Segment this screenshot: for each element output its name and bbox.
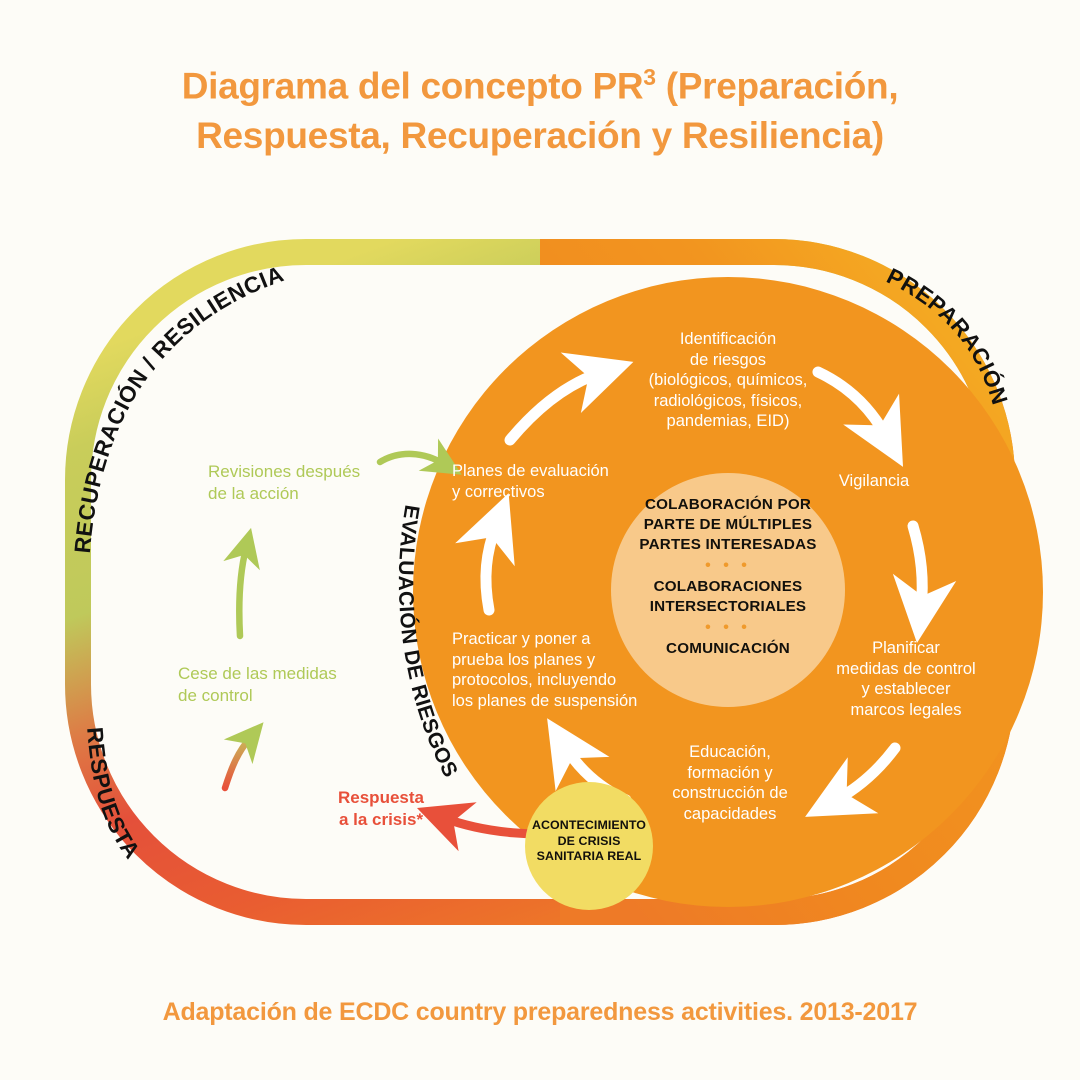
arrow-to-cese-medidas <box>225 738 250 788</box>
crisis-event-text: ACONTECIMIENTO DE CRISIS SANITARIA REAL <box>522 818 656 865</box>
source-caption: Adaptación de ECDC country preparedness … <box>0 998 1080 1027</box>
core-line-6: COMUNICACIÓN <box>612 639 844 659</box>
core-line-5: INTERSECTORIALES <box>612 597 844 617</box>
core-line-1: COLABORACIÓN POR <box>612 495 844 515</box>
core-line-2: PARTE DE MÚLTIPLES <box>612 515 844 535</box>
crisis-line-1: ACONTECIMIENTO <box>522 818 656 834</box>
core-separator-1: • • • <box>612 555 844 577</box>
step-educacion-formacion: Educación,formación yconstrucción decapa… <box>640 742 820 824</box>
crisis-line-2: DE CRISIS <box>522 834 656 850</box>
core-line-3: PARTES INTERESADAS <box>612 535 844 555</box>
ring-label-respuesta: RESPUESTA <box>82 726 145 863</box>
outer-step-respuesta-crisis: Respuestaa la crisis* <box>318 787 444 831</box>
pr3-concept-diagram: RECUPERACIÓN / RESILIENCIA PREPARACIÓN R… <box>0 0 1080 1080</box>
outer-step-revisiones: Revisiones despuésde la acción <box>208 461 428 505</box>
crisis-line-3: SANITARIA REAL <box>522 849 656 865</box>
core-collaboration-text: COLABORACIÓN POR PARTE DE MÚLTIPLES PART… <box>612 495 844 659</box>
diagram-canvas: Diagrama del concepto PR3 (Preparación, … <box>0 0 1080 1080</box>
step-vigilancia: Vigilancia <box>804 471 944 492</box>
arrow-to-revisiones <box>239 548 246 636</box>
core-separator-2: • • • <box>612 617 844 639</box>
core-line-4: COLABORACIONES <box>612 577 844 597</box>
step-planificar-medidas: Planificarmedidas de controly establecer… <box>818 638 994 720</box>
step-identificacion-riesgos: Identificaciónde riesgos(biológicos, quí… <box>614 329 842 432</box>
outer-step-cese-medidas: Cese de las medidasde control <box>178 663 398 707</box>
